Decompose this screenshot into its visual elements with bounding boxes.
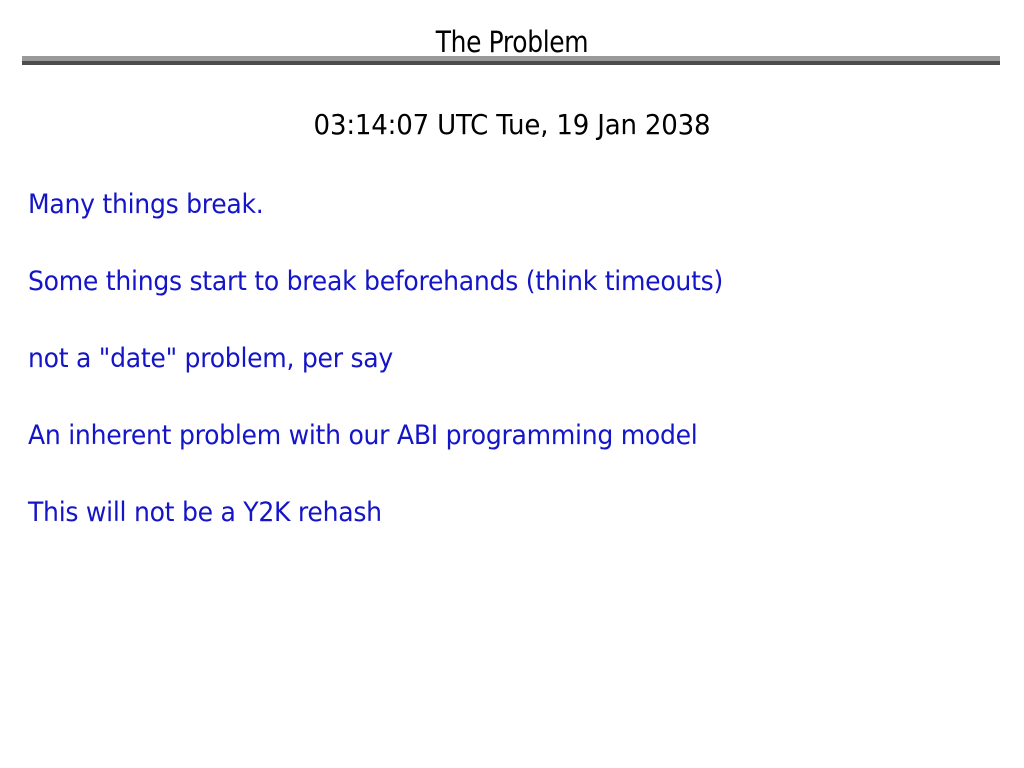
rule-shadow-band <box>22 61 1000 65</box>
slide: The Problem 03:14:07 UTC Tue, 19 Jan 203… <box>0 0 1024 768</box>
title-separator-rule <box>22 56 1000 65</box>
list-item: not a "date" problem, per say <box>28 342 939 376</box>
page-title: The Problem <box>72 26 953 58</box>
body-list: Many things break. Some things start to … <box>28 188 1008 530</box>
list-item: This will not be a Y2K rehash <box>28 496 939 530</box>
timestamp-line: 03:14:07 UTC Tue, 19 Jan 2038 <box>36 108 988 142</box>
list-item: An inherent problem with our ABI program… <box>28 419 939 453</box>
list-item: Some things start to break beforehands (… <box>28 265 939 299</box>
list-item: Many things break. <box>28 188 939 222</box>
